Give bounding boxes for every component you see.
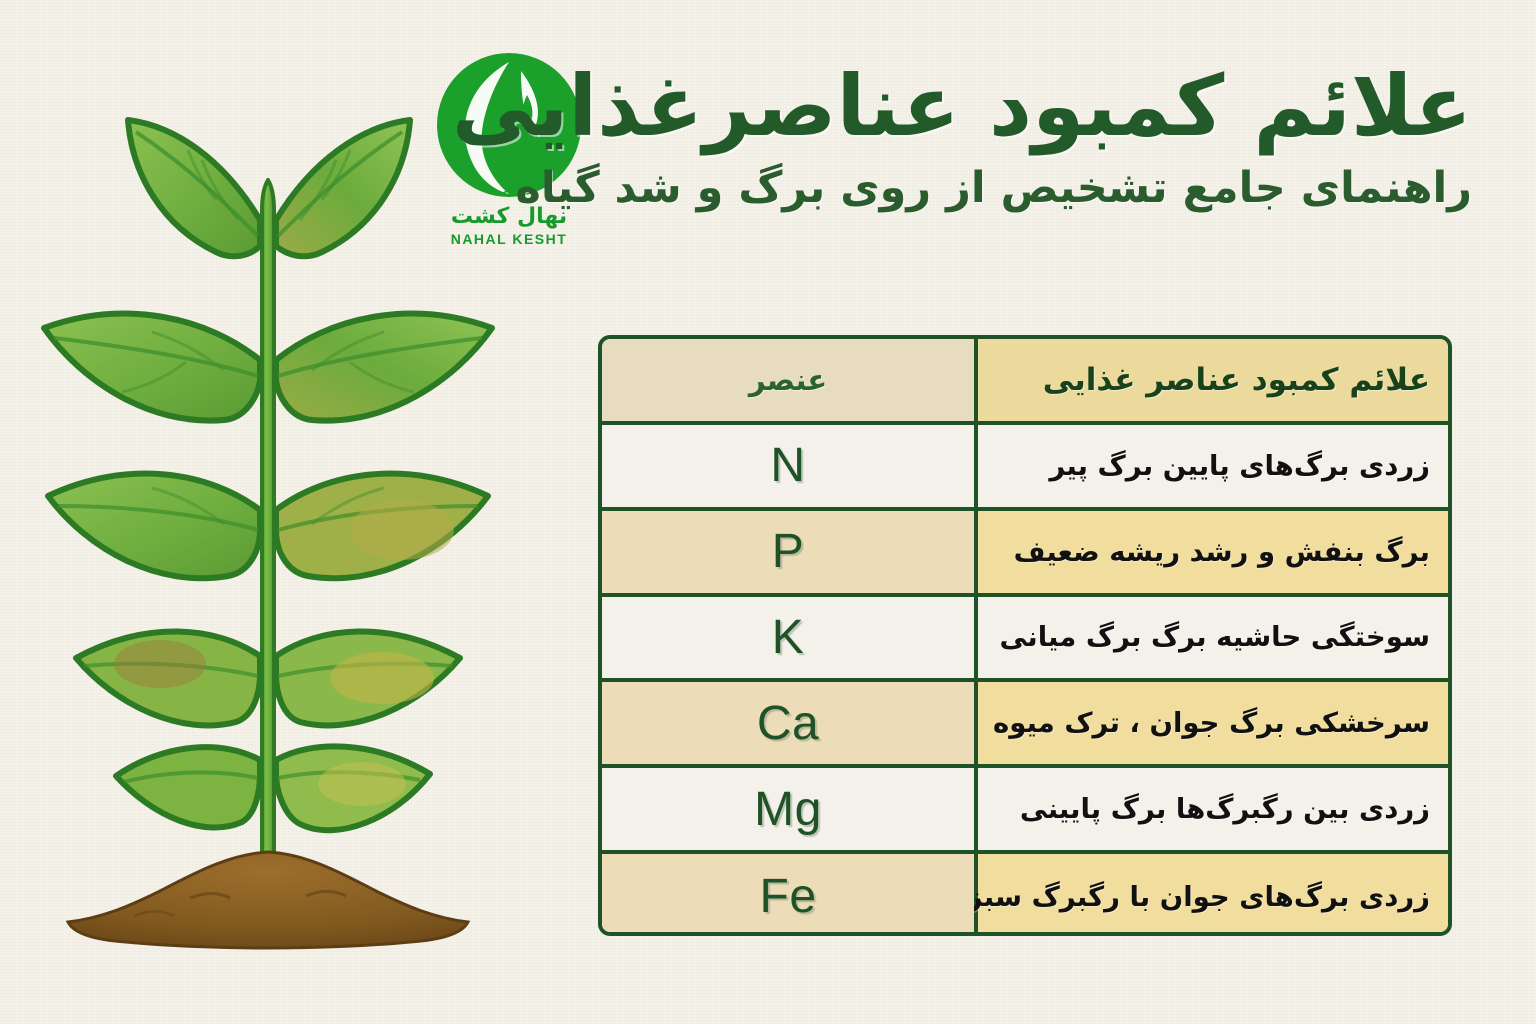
element-symbol: P bbox=[772, 524, 805, 579]
element-symbol: Mg bbox=[754, 782, 822, 837]
cell-element: K bbox=[602, 597, 974, 679]
element-symbol: K bbox=[772, 610, 805, 665]
cell-symptom: زردی برگ‌های پایین برگ پیر bbox=[974, 425, 1448, 507]
header-element-label: عنصر bbox=[749, 363, 827, 397]
element-symbol: N bbox=[770, 438, 805, 493]
symptom-text: برگ بنفش و رشد ریشه ضعیف bbox=[1014, 536, 1430, 568]
page-subtitle: راهنمای جامع تشخیص از روی برگ و شد گیاه bbox=[572, 162, 1472, 216]
header-cell-element: عنصر bbox=[602, 339, 974, 421]
element-symbol: Fe bbox=[760, 869, 817, 924]
soil-mound bbox=[68, 852, 468, 948]
table-row: زردی برگ‌های جوان با رگبرگ سبز Fe bbox=[602, 854, 1448, 936]
leaf-bottom-right bbox=[276, 746, 430, 830]
page-title: علائم کمبود عناصرغذایی bbox=[572, 62, 1472, 150]
leaf-mid-left bbox=[48, 474, 260, 579]
leaf-lower-left bbox=[76, 631, 260, 725]
table-row: برگ بنفش و رشد ریشه ضعیف P bbox=[602, 511, 1448, 597]
header-symptoms-label: علائم کمبود عناصر غذایی bbox=[1043, 362, 1430, 398]
cell-symptom: زردی برگ‌های جوان با رگبرگ سبز bbox=[974, 854, 1448, 936]
cell-symptom: سرخشکی برگ جوان ، ترک میوه bbox=[974, 682, 1448, 764]
cell-element: Fe bbox=[602, 854, 974, 936]
leaf-top-left bbox=[128, 120, 260, 256]
symptom-text: سرخشکی برگ جوان ، ترک میوه bbox=[993, 707, 1430, 739]
table-row: زردی بین رگبرگ‌ها برگ پایینی Mg bbox=[602, 768, 1448, 854]
cell-element: Ca bbox=[602, 682, 974, 764]
symptom-text: زردی برگ‌های جوان با رگبرگ سبز bbox=[967, 881, 1430, 913]
cell-symptom: سوختگی حاشیه برگ برگ میانی bbox=[974, 597, 1448, 679]
cell-element: P bbox=[602, 511, 974, 593]
leaf-bottom-left bbox=[116, 747, 260, 827]
brand-name-en: NAHAL KESHT bbox=[424, 231, 594, 247]
symptom-text: زردی بین رگبرگ‌ها برگ پایینی bbox=[1020, 793, 1430, 825]
table-row: زردی برگ‌های پایین برگ پیر N bbox=[602, 425, 1448, 511]
table-row: سرخشکی برگ جوان ، ترک میوه Ca bbox=[602, 682, 1448, 768]
nutrient-deficiency-table: نهال کشت NAHAL KESHT علائم کمبود عناصر غ… bbox=[598, 335, 1452, 936]
leaf-upper-right bbox=[276, 314, 492, 421]
headings-block: علائم کمبود عناصرغذایی راهنمای جامع تشخی… bbox=[572, 62, 1472, 216]
plant-stem bbox=[262, 180, 274, 865]
symptom-text: زردی برگ‌های پایین برگ پیر bbox=[1049, 450, 1430, 482]
cell-symptom: زردی بین رگبرگ‌ها برگ پایینی bbox=[974, 768, 1448, 850]
leaf-mid-right bbox=[276, 474, 488, 579]
cell-element: N bbox=[602, 425, 974, 507]
header-cell-symptoms: علائم کمبود عناصر غذایی bbox=[974, 339, 1448, 421]
symptom-text: سوختگی حاشیه برگ برگ میانی bbox=[1000, 621, 1430, 653]
table-header-row: علائم کمبود عناصر غذایی عنصر bbox=[602, 339, 1448, 425]
cell-element: Mg bbox=[602, 768, 974, 850]
leaf-top-right bbox=[276, 120, 410, 256]
element-symbol: Ca bbox=[757, 696, 819, 751]
table-row: سوختگی حاشیه برگ برگ میانی K bbox=[602, 597, 1448, 683]
cell-symptom: برگ بنفش و رشد ریشه ضعیف bbox=[974, 511, 1448, 593]
leaf-upper-left bbox=[44, 314, 260, 421]
leaf-lower-right bbox=[276, 631, 460, 725]
